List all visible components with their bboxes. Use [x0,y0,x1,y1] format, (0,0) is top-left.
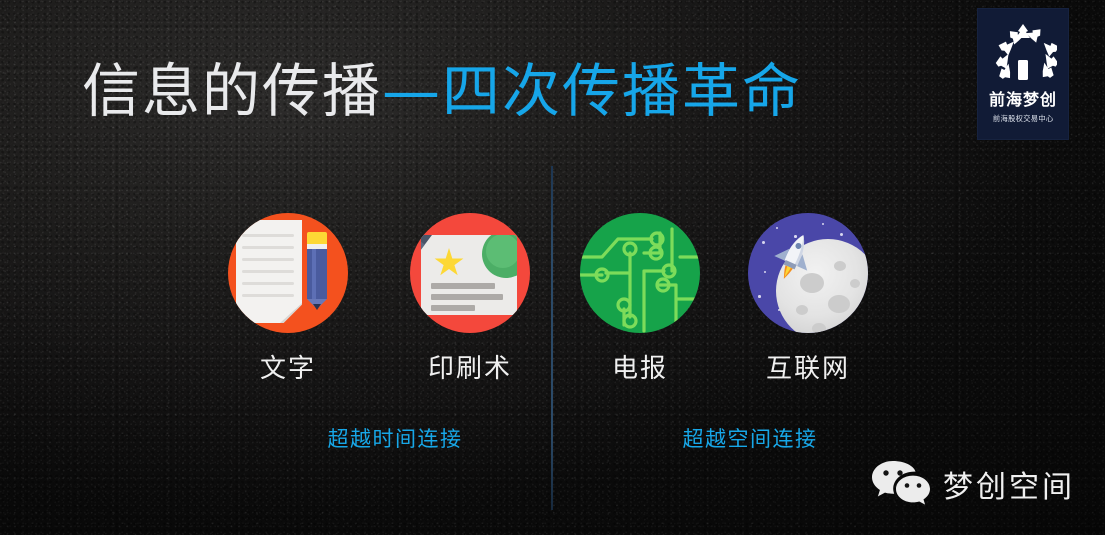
page-title-primary: 信息的传播 [82,57,382,125]
writing-paper-pencil-icon [228,213,348,333]
circuit-board-icon [580,213,700,333]
item-label-internet: 互联网 [748,348,868,385]
laurel-wreath-icon [989,22,1057,84]
slide-canvas: 信息的传播—四次传播革命 前海梦创 前海股权交易中心 [0,0,1105,535]
icon-row [0,213,1105,338]
item-icon-writing [228,213,348,333]
wechat-account-name: 梦创空间 [943,462,1075,506]
item-icon-printing [410,213,530,333]
logo-subtitle: 前海股权交易中心 [993,113,1054,124]
caption-time-connection: 超越时间连接 [275,423,515,453]
page-title: 信息的传播—四次传播革命 [82,62,802,120]
logo-company-name: 前海梦创 [989,86,1057,110]
printing-press-card-icon [410,213,530,333]
star-shape [434,248,464,278]
wechat-footer: 梦创空间 [872,461,1075,506]
item-label-writing: 文字 [228,348,348,385]
item-label-telegraph: 电报 [580,348,700,385]
moon-rocket-space-icon [748,213,868,333]
caption-space-connection: 超越空间连接 [630,423,870,453]
page-title-accent: —四次传播革命 [382,57,802,125]
item-icon-internet [748,213,868,333]
pencil-shape [307,232,327,312]
paper-shape [236,220,302,323]
item-icon-telegraph [580,213,700,333]
item-label-printing: 印刷术 [410,348,530,385]
wechat-icon [872,461,930,506]
printed-card-shape [421,235,517,315]
corporate-logo: 前海梦创 前海股权交易中心 [977,8,1069,140]
